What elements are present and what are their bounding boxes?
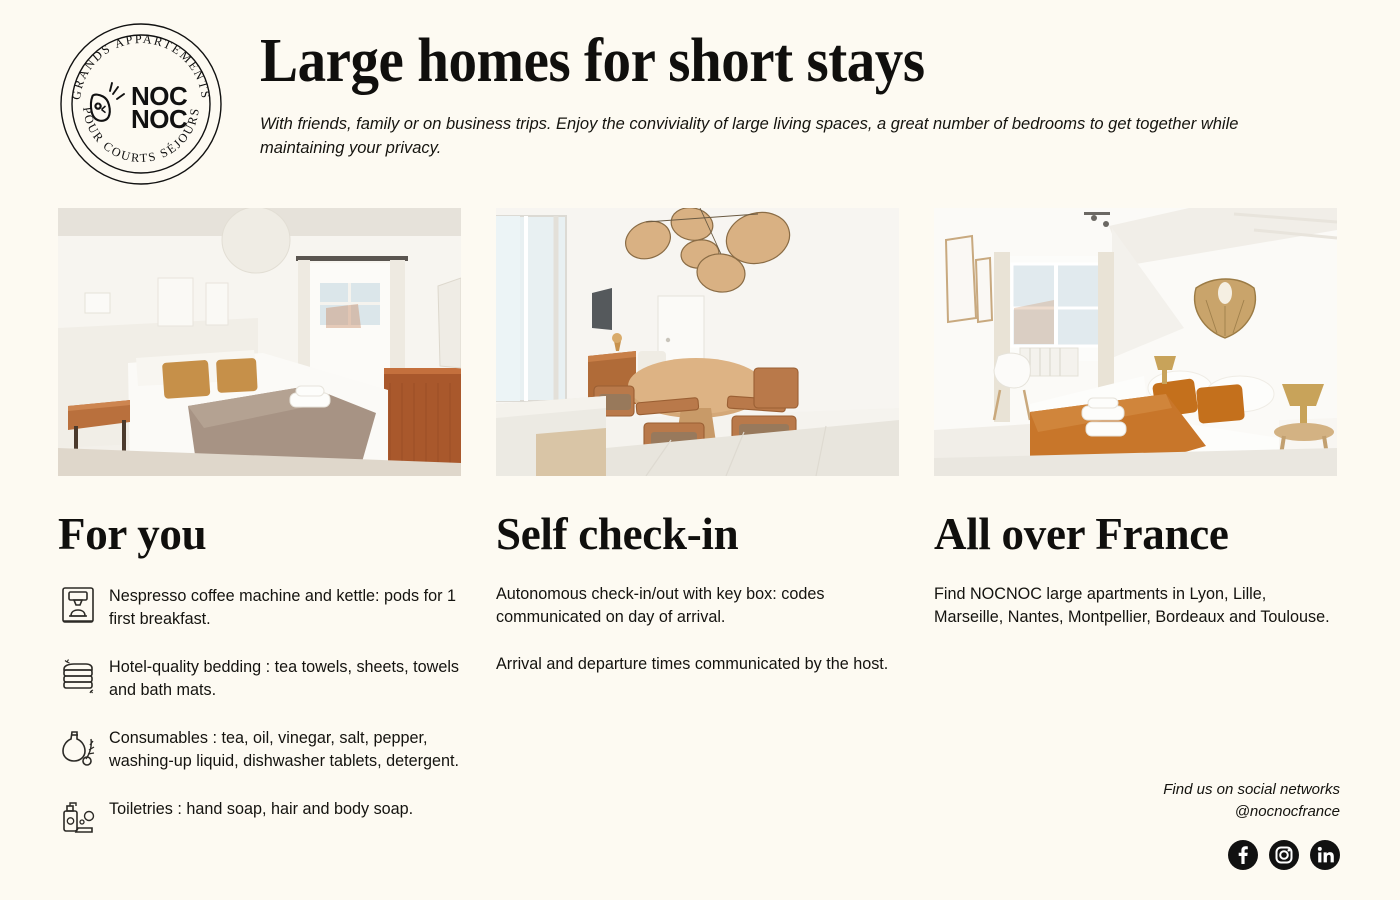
feature-item: Hotel-quality bedding : tea towels, shee…: [58, 654, 461, 702]
page-title: Large homes for short stays: [260, 30, 1254, 93]
photo-dining-room: [496, 208, 899, 476]
folded-towels-icon: [58, 655, 98, 697]
knock-motion-lines: [110, 83, 124, 99]
linkedin-icon[interactable]: [1310, 840, 1340, 870]
social-handle: @nocnocfrance: [1163, 801, 1340, 822]
social-label: Find us on social networks: [1163, 779, 1340, 800]
soap-dispenser-icon: [58, 797, 98, 839]
feature-text: Nespresso coffee machine and kettle: pod…: [109, 583, 461, 631]
coffee-machine-icon: [58, 584, 98, 626]
feature-item: Toiletries : hand soap, hair and body so…: [58, 796, 461, 839]
photo-bedroom-ochre: [58, 208, 461, 476]
logo-wordmark-line2: NOC: [131, 104, 188, 134]
nocnoc-logo-badge[interactable]: GRANDS APPARTEMENTS POUR COURTS SÉJOURS …: [58, 21, 224, 187]
column-self-check-in: Self check-in Autonomous check-in/out wi…: [496, 208, 899, 862]
photo-bedroom-rust: [934, 208, 1337, 476]
social-icon-row: [1163, 840, 1340, 870]
page-header: GRANDS APPARTEMENTS POUR COURTS SÉJOURS …: [0, 0, 1400, 190]
header-text-block: Large homes for short stays With friends…: [224, 16, 1340, 160]
feature-text: Toiletries : hand soap, hair and body so…: [109, 796, 413, 821]
paragraph: Arrival and departure times communicated…: [496, 653, 899, 676]
column-title-for-you: For you: [58, 512, 461, 557]
oil-bottle-herbs-icon: [58, 726, 98, 768]
column-all-over-france: All over France Find NOCNOC large apartm…: [934, 208, 1337, 862]
feature-text: Hotel-quality bedding : tea towels, shee…: [109, 654, 461, 702]
feature-text: Consumables : tea, oil, vinegar, salt, p…: [109, 725, 461, 773]
facebook-icon[interactable]: [1228, 840, 1258, 870]
content-columns: For you Nespresso coffee machine and ket…: [0, 190, 1400, 862]
feature-item: Nespresso coffee machine and kettle: pod…: [58, 583, 461, 631]
column-title-self-check-in: Self check-in: [496, 512, 899, 557]
paragraph: Autonomous check-in/out with key box: co…: [496, 583, 899, 629]
paragraph: Find NOCNOC large apartments in Lyon, Li…: [934, 583, 1337, 629]
feature-item: Consumables : tea, oil, vinegar, salt, p…: [58, 725, 461, 773]
page-subtitle: With friends, family or on business trip…: [260, 113, 1322, 160]
social-footer: Find us on social networks @nocnocfrance: [1163, 779, 1340, 870]
instagram-icon[interactable]: [1269, 840, 1299, 870]
column-title-all-over-france: All over France: [934, 512, 1337, 557]
column-for-you: For you Nespresso coffee machine and ket…: [58, 208, 461, 862]
